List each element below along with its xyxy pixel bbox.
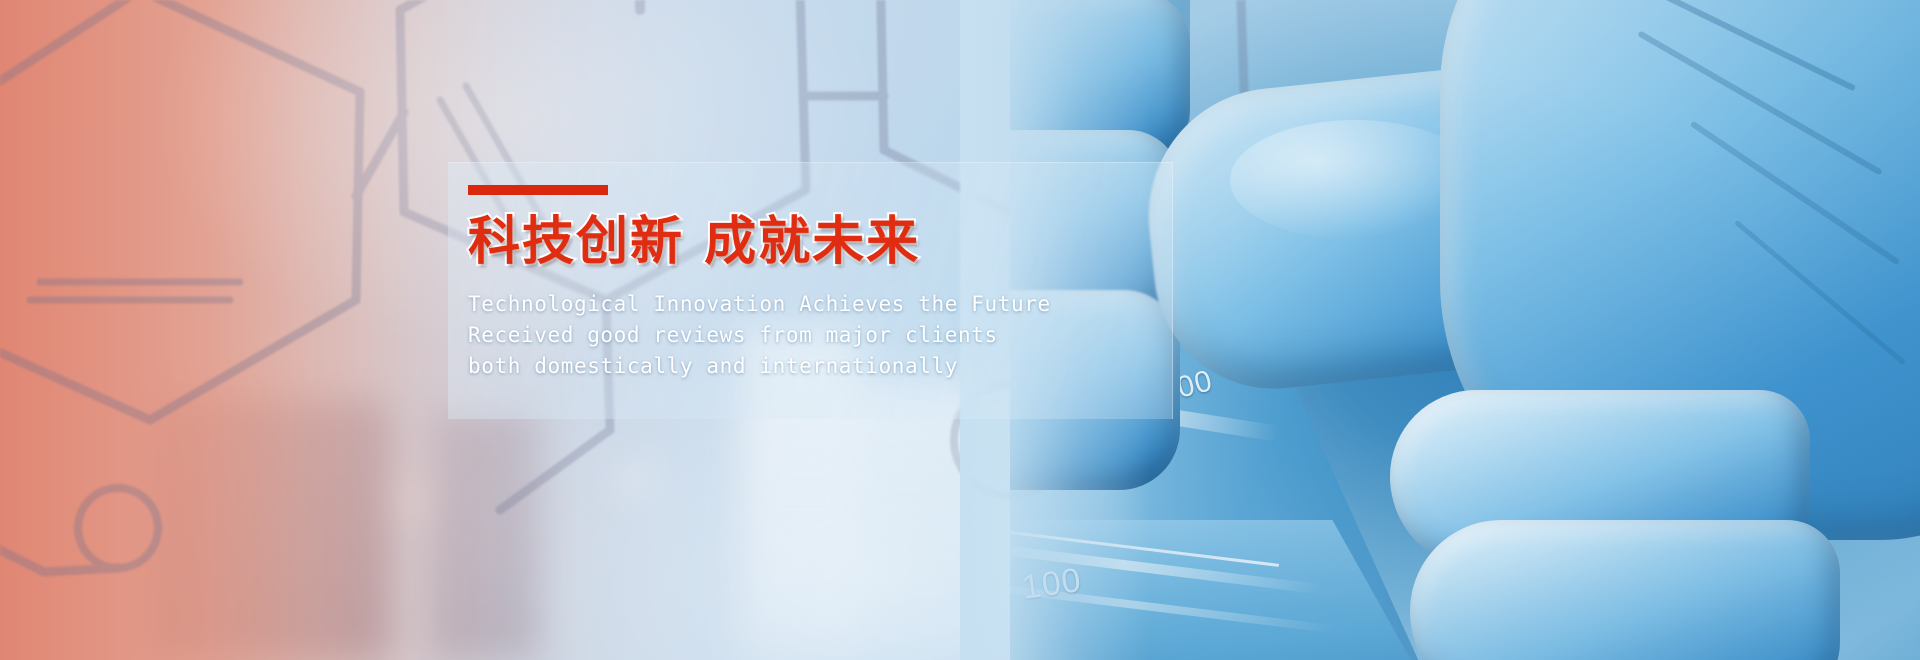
page-title: 科技创新 成就未来 [468, 211, 920, 273]
hero-text-panel: 科技创新 成就未来 Technological Innovation Achie… [448, 162, 1173, 419]
hero-banner: APPROX 200 100 科技创新 成就未来 Technological I… [0, 0, 1920, 660]
red-accent-bar [468, 185, 608, 195]
subheadline-line-2: Received good reviews from major clients [468, 320, 1051, 351]
subheadline-line-1: Technological Innovation Achieves the Fu… [468, 289, 1051, 320]
subheadline-line-3: both domestically and internationally [468, 351, 1051, 382]
hero-subheadline: Technological Innovation Achieves the Fu… [468, 289, 1051, 382]
